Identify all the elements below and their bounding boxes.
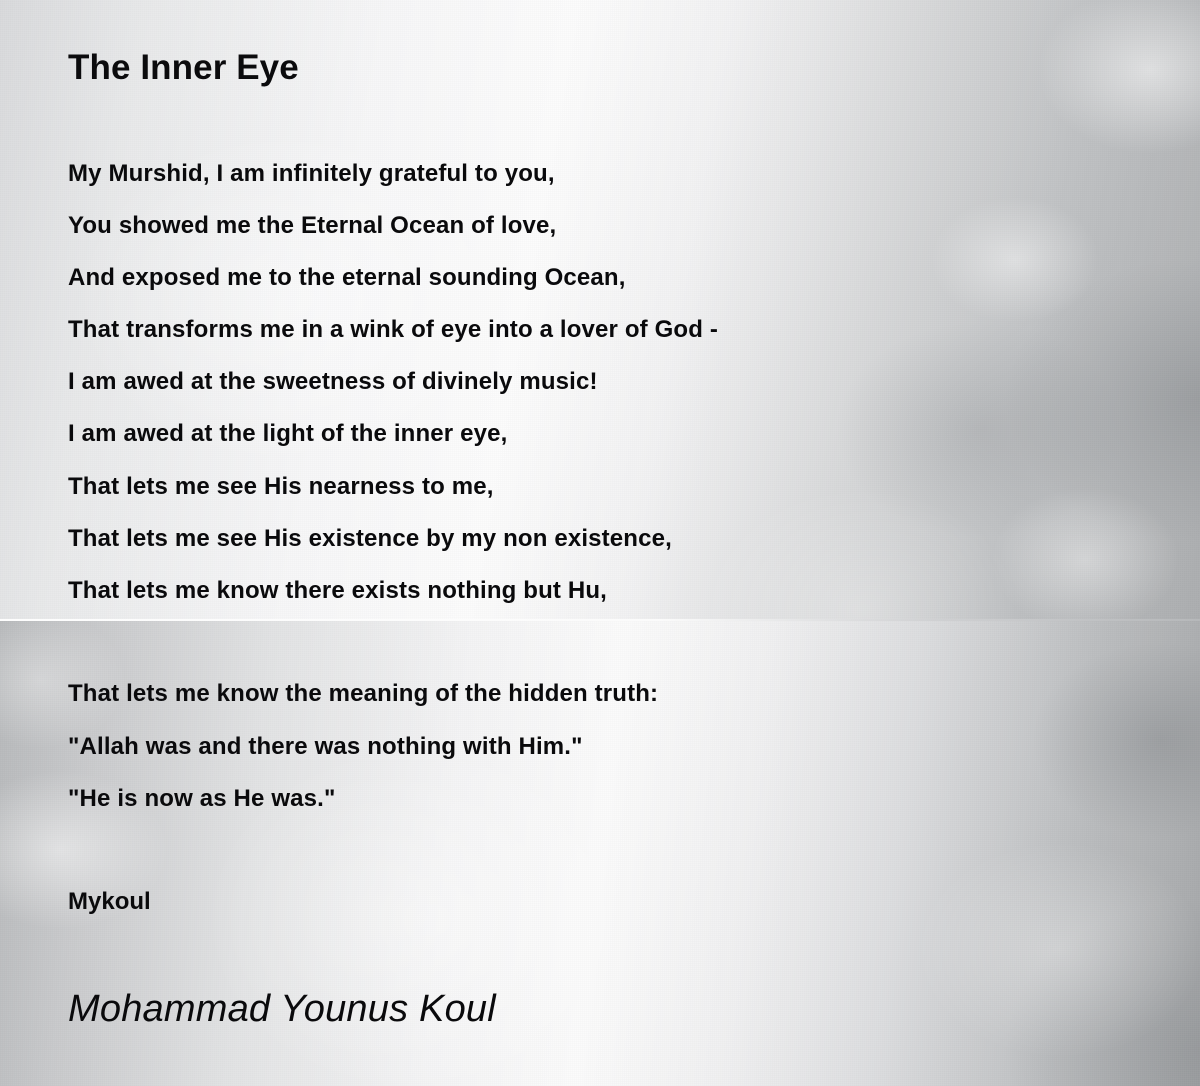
poem-line: "Allah was and there was nothing with Hi…	[68, 735, 583, 759]
poem-signature: Mykoul	[68, 888, 151, 916]
poem-line: And exposed me to the eternal sounding O…	[68, 266, 626, 290]
poem-line: That lets me see His existence by my non…	[68, 527, 672, 551]
poem-line: I am awed at the sweetness of divinely m…	[68, 370, 598, 394]
poem-line: That transforms me in a wink of eye into…	[68, 318, 718, 342]
poem-line: "He is now as He was."	[68, 787, 336, 811]
author-name: Mohammad Younus Koul	[68, 988, 496, 1031]
poem-image: The Inner Eye My Murshid, I am infinitel…	[0, 0, 1200, 1086]
poem-line: That lets me see His nearness to me,	[68, 475, 494, 499]
poem-line: That lets me know the meaning of the hid…	[68, 682, 658, 706]
poem-line: My Murshid, I am infinitely grateful to …	[68, 162, 555, 186]
page-title: The Inner Eye	[68, 48, 299, 88]
poem-line: That lets me know there exists nothing b…	[68, 579, 607, 603]
poem-line: You showed me the Eternal Ocean of love,	[68, 214, 556, 238]
poem-text-layer: The Inner Eye My Murshid, I am infinitel…	[0, 0, 1200, 1086]
poem-line: I am awed at the light of the inner eye,	[68, 422, 507, 446]
